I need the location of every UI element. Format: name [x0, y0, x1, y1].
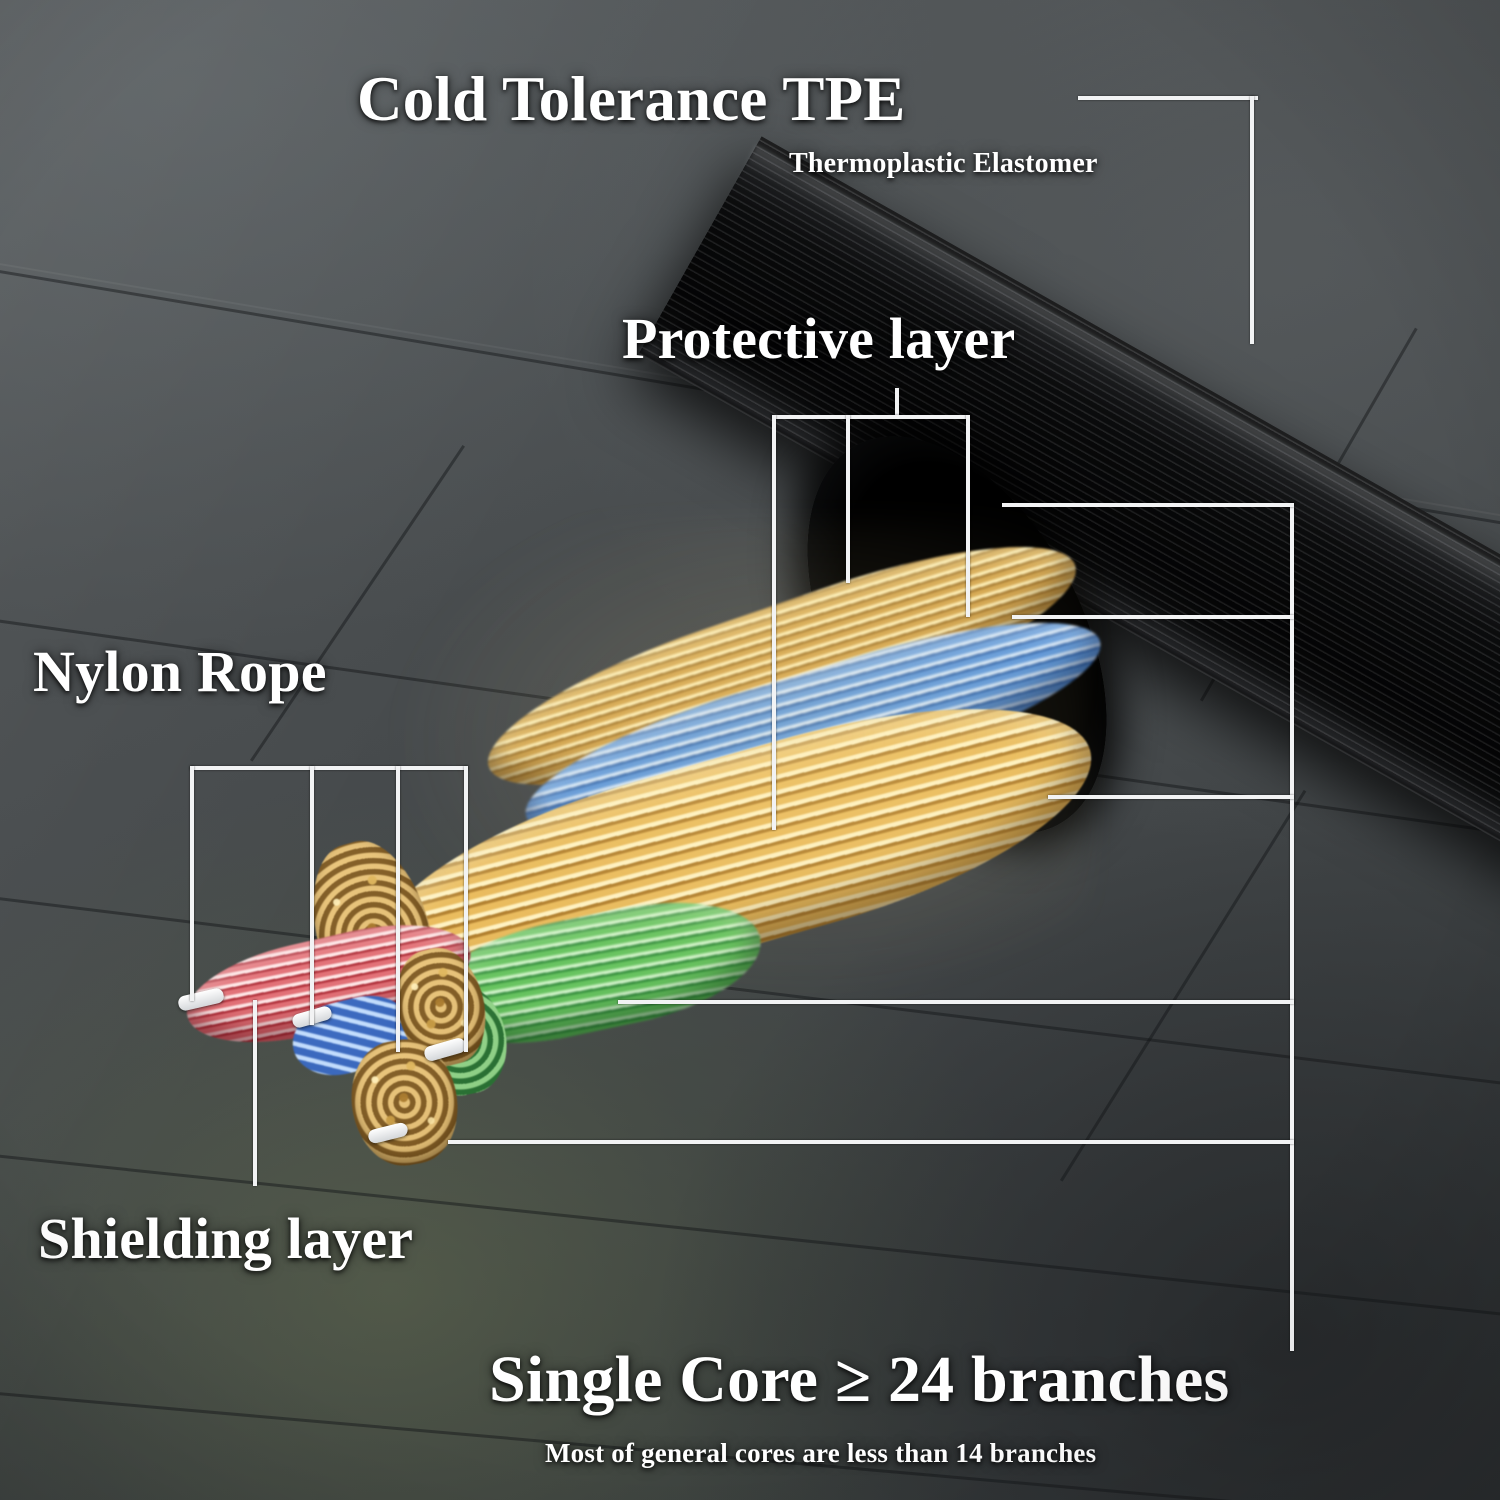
vignette-overlay: [0, 0, 1500, 1500]
cable-infographic: Cold Tolerance TPE Thermoplastic Elastom…: [0, 0, 1500, 1500]
